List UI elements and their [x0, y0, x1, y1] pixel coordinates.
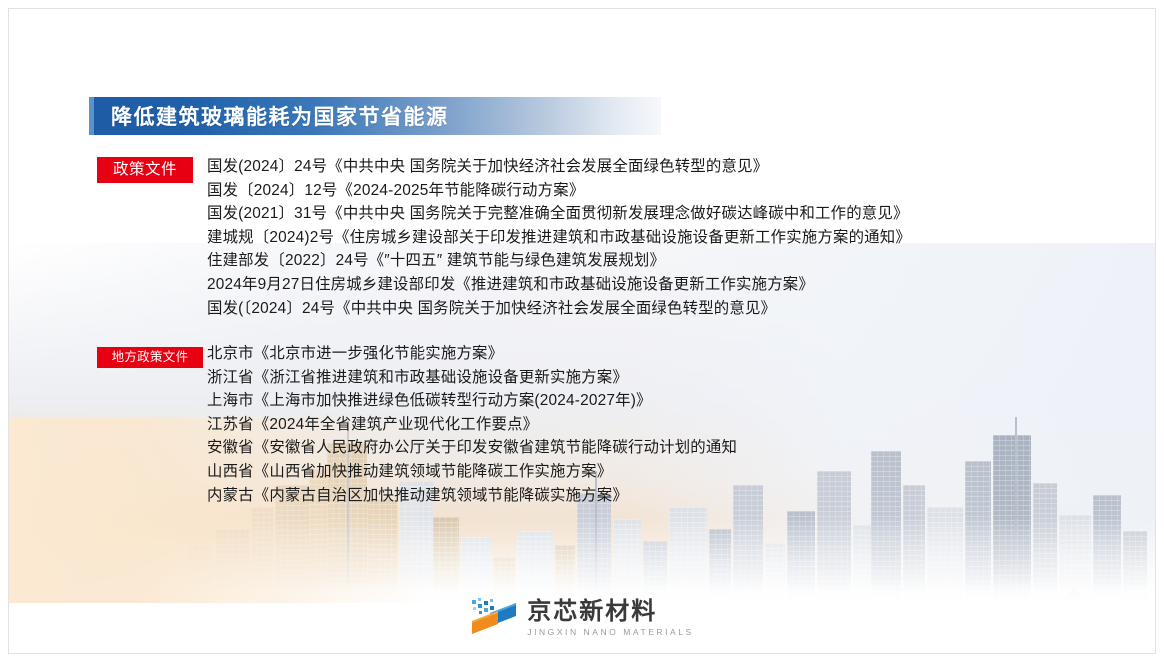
- slide-title-bar: 降低建筑玻璃能耗为国家节省能源: [89, 97, 661, 135]
- logo-lockup: 京芯新材料 JINGXIN NANO MATERIALS: [470, 597, 693, 639]
- local-policy-list: 北京市《北京市进一步强化节能实施方案》 浙江省《浙江省推进建筑和市政基础设施设备…: [207, 342, 737, 507]
- list-item: 浙江省《浙江省推进建筑和市政基础设施设备更新实施方案》: [207, 366, 737, 390]
- list-item: 国发(2021〕31号《中共中央 国务院关于完整准确全面贯彻新发展理念做好碳达峰…: [207, 202, 911, 226]
- footer-logo: 京芯新材料 JINGXIN NANO MATERIALS: [9, 597, 1155, 639]
- national-policy-list: 国发(2024〕24号《中共中央 国务院关于加快经济社会发展全面绿色转型的意见》…: [207, 155, 911, 320]
- page-title: 降低建筑玻璃能耗为国家节省能源: [111, 101, 449, 131]
- badge-national-policy: 政策文件: [97, 157, 193, 183]
- logo-name-en: JINGXIN NANO MATERIALS: [527, 626, 693, 638]
- list-item: 国发(〔2024〕24号《中共中央 国务院关于加快经济社会发展全面绿色转型的意见…: [207, 297, 911, 321]
- badge-local-policy: 地方政策文件: [97, 347, 203, 368]
- list-item: 国发(2024〕24号《中共中央 国务院关于加快经济社会发展全面绿色转型的意见》: [207, 155, 911, 179]
- list-item: 住建部发〔2022〕24号《″十四五″ 建筑节能与绿色建筑发展规划》: [207, 249, 911, 273]
- skyline-haze: [9, 517, 1155, 603]
- section-local-policy: 地方政策文件 北京市《北京市进一步强化节能实施方案》 浙江省《浙江省推进建筑和市…: [97, 345, 737, 507]
- list-item: 江苏省《2024年全省建筑产业现代化工作要点》: [207, 413, 737, 437]
- list-item: 山西省《山西省加快推动建筑领域节能降碳工作实施方案》: [207, 460, 737, 484]
- list-item: 上海市《上海市加快推进绿色低碳转型行动方案(2024-2027年)》: [207, 389, 737, 413]
- list-item: 2024年9月27日住房城乡建设部印发《推进建筑和市政基础设施设备更新工作实施方…: [207, 273, 911, 297]
- logo-text-block: 京芯新材料 JINGXIN NANO MATERIALS: [527, 599, 693, 638]
- logo-name-cn: 京芯新材料: [527, 599, 657, 625]
- list-item: 内蒙古《内蒙古自治区加快推动建筑领域节能降碳实施方案》: [207, 484, 737, 508]
- list-item: 安徽省《安徽省人民政府办公厅关于印发安徽省建筑节能降碳行动计划的通知: [207, 436, 737, 460]
- jingxin-logo-icon: [470, 597, 518, 639]
- slide-canvas: 降低建筑玻璃能耗为国家节省能源 政策文件 国发(2024〕24号《中共中央 国务…: [8, 8, 1156, 654]
- title-bar-accent: [89, 97, 94, 135]
- list-item: 建城规〔2024)2号《住房城乡建设部关于印发推进建筑和市政基础设施设备更新工作…: [207, 226, 911, 250]
- list-item: 国发〔2024〕12号《2024-2025年节能降碳行动方案》: [207, 179, 911, 203]
- section-national-policy: 政策文件 国发(2024〕24号《中共中央 国务院关于加快经济社会发展全面绿色转…: [97, 157, 911, 320]
- list-item: 北京市《北京市进一步强化节能实施方案》: [207, 342, 737, 366]
